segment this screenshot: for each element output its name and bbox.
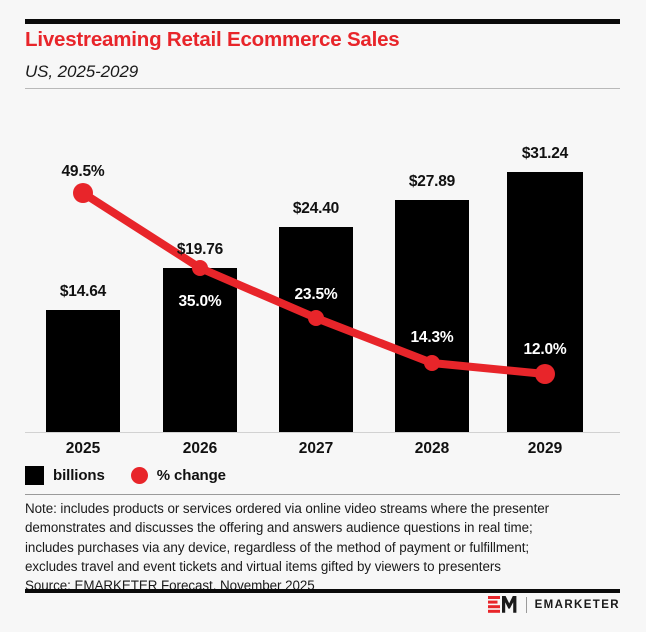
percent-change-label: 12.0%	[485, 341, 605, 359]
bar-2028	[395, 200, 469, 432]
legend-label: billions	[53, 467, 105, 484]
note-line: excludes travel and event tickets and vi…	[25, 557, 605, 576]
bar-value-label: $24.40	[256, 200, 376, 218]
x-axis-label-2026: 2026	[150, 440, 250, 458]
chart-legend: billions% change	[25, 466, 226, 485]
legend-item: % change	[131, 467, 226, 484]
x-axis-label-2029: 2029	[495, 440, 595, 458]
x-axis-label-2027: 2027	[266, 440, 366, 458]
x-axis-label-2025: 2025	[33, 440, 133, 458]
legend-circle-icon	[131, 467, 148, 484]
bar-2029	[507, 172, 583, 432]
legend-square-icon	[25, 466, 44, 485]
bar-value-label: $19.76	[140, 241, 260, 259]
brand-name: EMARKETER	[535, 599, 620, 611]
x-axis-line	[25, 432, 620, 433]
legend-item: billions	[25, 466, 105, 485]
note-line: Note: includes products or services orde…	[25, 499, 605, 518]
percent-change-label: 14.3%	[372, 329, 492, 347]
legend-divider	[25, 494, 620, 495]
bar-value-label: $27.89	[372, 173, 492, 191]
chart-notes: Note: includes products or services orde…	[25, 499, 605, 595]
em-monogram-icon	[488, 596, 518, 613]
legend-label: % change	[157, 467, 226, 484]
bar-2025	[46, 310, 120, 432]
note-line: includes purchases via any device, regar…	[25, 538, 605, 557]
bar-2027	[279, 227, 353, 432]
bar-value-label: $31.24	[485, 145, 605, 163]
bar-value-label: $14.64	[23, 283, 143, 301]
chart-canvas: Livestreaming Retail Ecommerce Sales US,…	[0, 0, 646, 632]
bottom-rule	[25, 589, 620, 593]
percent-change-label: 49.5%	[23, 163, 143, 181]
line-marker	[73, 183, 93, 203]
logo-divider	[526, 597, 527, 613]
note-line: demonstrates and discusses the offering …	[25, 518, 605, 537]
percent-change-label: 23.5%	[256, 286, 376, 304]
emarketer-logo: EMARKETER	[488, 596, 620, 613]
percent-change-label: 35.0%	[140, 293, 260, 311]
x-axis-label-2028: 2028	[382, 440, 482, 458]
